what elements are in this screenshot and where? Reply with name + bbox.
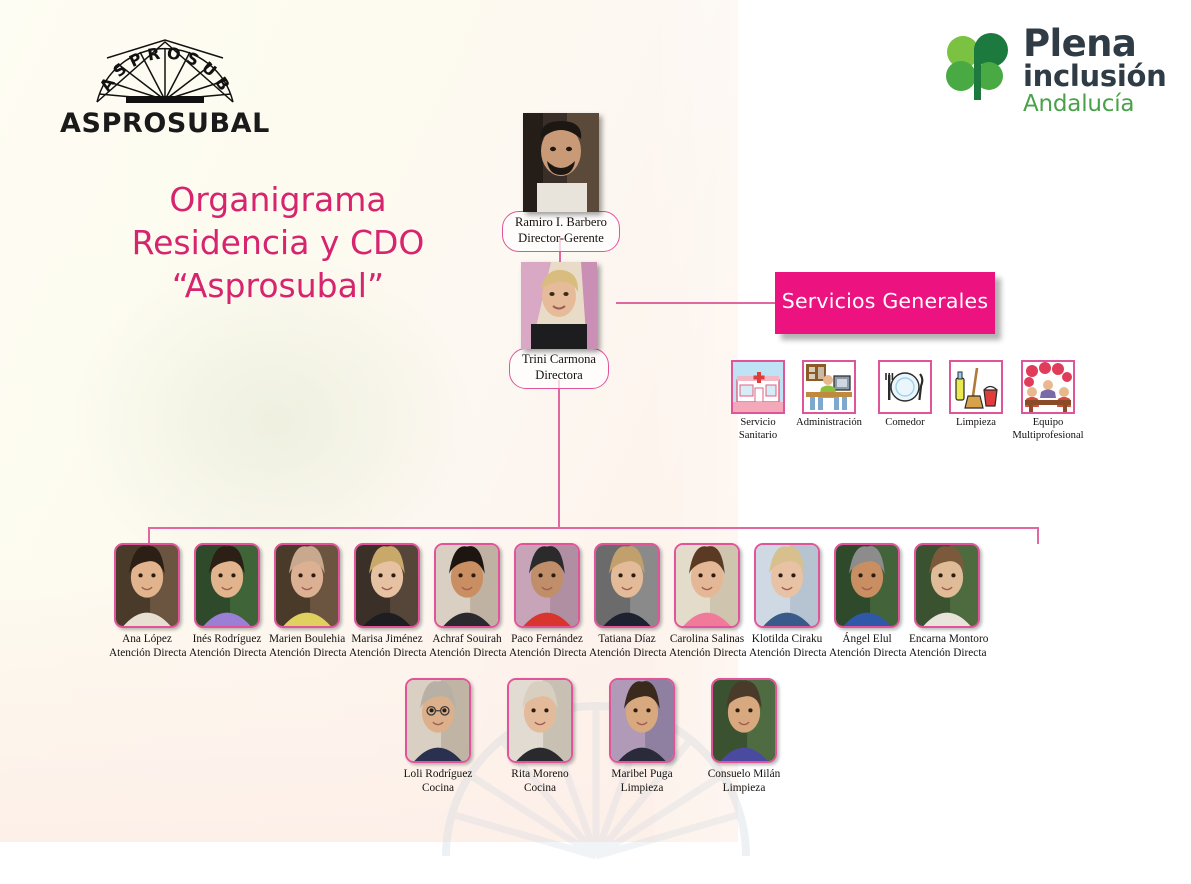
connector-bus-drop-right	[1037, 527, 1039, 544]
staff-name: Marien Boulehia	[269, 632, 345, 646]
exec-role: Directora	[522, 368, 596, 384]
staff-card[interactable]: Maribel PugaLimpieza	[593, 678, 691, 795]
staff-name: Encarna Montoro	[909, 632, 985, 646]
staff-card[interactable]: Marisa JiménezAtención Directa	[349, 543, 425, 660]
staff-role: Atención Directa	[429, 646, 505, 660]
service-label: Administración	[793, 417, 865, 430]
avatar	[434, 543, 500, 628]
staff-card[interactable]: Klotilda CirakuAtención Directa	[749, 543, 825, 660]
exec-name: Ramiro I. Barbero	[515, 215, 607, 231]
service-label-line: Comedor	[869, 417, 941, 430]
avatar	[405, 678, 471, 763]
service-label: Servicio Sanitario	[722, 417, 794, 443]
staff-card[interactable]: Tatiana DíazAtención Directa	[589, 543, 665, 660]
asprosubal-fan-icon: A S P R O S U B A L	[40, 22, 290, 114]
service-item-sanitario[interactable]: Servicio Sanitario	[722, 360, 794, 443]
staff-name: Maribel Puga	[593, 767, 691, 781]
staff-role: Cocina	[491, 781, 589, 795]
service-label-line: Limpieza	[940, 417, 1012, 430]
staff-card[interactable]: Rita MorenoCocina	[491, 678, 589, 795]
avatar-ramiro	[523, 113, 599, 212]
page-title: Organigrama Residencia y CDO “Asprosubal…	[58, 178, 498, 308]
connector-staff-bus	[148, 527, 1039, 529]
portrait-photo	[523, 113, 599, 212]
avatar	[609, 678, 675, 763]
service-item-administracion[interactable]: Administración	[793, 360, 865, 430]
connector-bus-drop-left	[148, 527, 150, 544]
staff-card[interactable]: Achraf SouirahAtención Directa	[429, 543, 505, 660]
exec-name: Trini Carmona	[522, 352, 596, 368]
staff-name: Ana López	[109, 632, 185, 646]
staff-card[interactable]: Ángel ElulAtención Directa	[829, 543, 905, 660]
staff-name: Tatiana Díaz	[589, 632, 665, 646]
staff-role: Limpieza	[593, 781, 691, 795]
exec-role: Director-Gerente	[515, 231, 607, 247]
staff-role: Atención Directa	[749, 646, 825, 660]
staff-name: Carolina Salinas	[669, 632, 745, 646]
avatar	[194, 543, 260, 628]
avatar	[114, 543, 180, 628]
avatar-trini	[521, 262, 597, 349]
staff-role: Atención Directa	[589, 646, 665, 660]
staff-card[interactable]: Loli RodríguezCocina	[389, 678, 487, 795]
service-label-line: Administración	[793, 417, 865, 430]
plena-inclusion-logo: Plena inclusión Andalucía	[943, 28, 1153, 133]
plate-cutlery-icon	[878, 360, 932, 414]
office-desk-worker-icon	[802, 360, 856, 414]
staff-role: Atención Directa	[189, 646, 265, 660]
plena-logo-line3: Andalucía	[1023, 91, 1166, 117]
avatar	[754, 543, 820, 628]
staff-name: Rita Moreno	[491, 767, 589, 781]
asprosubal-logo: A S P R O S U B A L ASPROSUBAL	[40, 22, 290, 130]
exec-card-ramiro[interactable]: Ramiro I. Barbero Director-Gerente	[489, 113, 633, 252]
staff-role: Atención Directa	[909, 646, 985, 660]
staff-name: Achraf Souirah	[429, 632, 505, 646]
avatar	[834, 543, 900, 628]
page-title-line-2: Residencia y CDO	[58, 221, 498, 264]
staff-name: Consuelo Milán	[695, 767, 793, 781]
staff-role: Cocina	[389, 781, 487, 795]
staff-card[interactable]: Carolina SalinasAtención Directa	[669, 543, 745, 660]
team-meeting-icon	[1021, 360, 1075, 414]
broom-bucket-bottle-icon	[949, 360, 1003, 414]
plena-logo-line1: Plena	[1023, 26, 1166, 62]
staff-role: Atención Directa	[349, 646, 425, 660]
avatar	[507, 678, 573, 763]
connector-trini-trunk	[558, 380, 560, 528]
avatar	[594, 543, 660, 628]
connector-trini-to-servicios	[616, 302, 778, 304]
plena-logo-line2: inclusión	[1023, 62, 1166, 92]
service-label-line: Servicio	[722, 417, 794, 430]
staff-name: Marisa Jiménez	[349, 632, 425, 646]
servicios-generales-label: Servicios Generales	[775, 289, 995, 313]
service-label: Limpieza	[940, 417, 1012, 430]
staff-card[interactable]: Encarna MontoroAtención Directa	[909, 543, 985, 660]
staff-role: Atención Directa	[109, 646, 185, 660]
service-label: Comedor	[869, 417, 941, 430]
service-item-equipo[interactable]: Equipo Multiprofesional	[1007, 360, 1089, 443]
staff-card[interactable]: Ana LópezAtención Directa	[109, 543, 185, 660]
staff-card[interactable]: Consuelo MilánLimpieza	[695, 678, 793, 795]
exec-caption-ramiro: Ramiro I. Barbero Director-Gerente	[502, 211, 620, 252]
staff-name: Paco Fernández	[509, 632, 585, 646]
staff-card[interactable]: Marien BoulehiaAtención Directa	[269, 543, 345, 660]
staff-card[interactable]: Paco FernándezAtención Directa	[509, 543, 585, 660]
staff-name: Loli Rodríguez	[389, 767, 487, 781]
avatar	[514, 543, 580, 628]
service-label-line: Equipo	[1007, 417, 1089, 430]
staff-name: Ángel Elul	[829, 632, 905, 646]
clover-leaf-icon	[943, 32, 1013, 102]
exec-card-trini[interactable]: Trini Carmona Directora	[487, 262, 631, 389]
avatar	[274, 543, 340, 628]
avatar	[354, 543, 420, 628]
servicios-generales-box[interactable]: Servicios Generales	[775, 272, 995, 334]
page-title-line-1: Organigrama	[58, 178, 498, 221]
service-label: Equipo Multiprofesional	[1007, 417, 1089, 443]
staff-name: Inés Rodríguez	[189, 632, 265, 646]
staff-role: Atención Directa	[269, 646, 345, 660]
staff-role: Limpieza	[695, 781, 793, 795]
staff-role: Atención Directa	[829, 646, 905, 660]
page-title-line-3: “Asprosubal”	[58, 264, 498, 307]
avatar	[711, 678, 777, 763]
avatar	[914, 543, 980, 628]
svg-text:A S P R O S U B A L: A S P R O S U B A L	[40, 22, 237, 99]
exec-caption-trini: Trini Carmona Directora	[509, 348, 609, 389]
staff-role: Atención Directa	[509, 646, 585, 660]
service-label-line: Multiprofesional	[1007, 430, 1089, 443]
service-item-limpieza[interactable]: Limpieza	[940, 360, 1012, 430]
staff-role: Atención Directa	[669, 646, 745, 660]
clinic-building-icon	[731, 360, 785, 414]
staff-card[interactable]: Inés RodríguezAtención Directa	[189, 543, 265, 660]
asprosubal-wordmark: ASPROSUBAL	[40, 108, 290, 139]
portrait-photo	[521, 262, 597, 349]
service-item-comedor[interactable]: Comedor	[869, 360, 941, 430]
service-label-line: Sanitario	[722, 430, 794, 443]
avatar	[674, 543, 740, 628]
staff-name: Klotilda Ciraku	[749, 632, 825, 646]
